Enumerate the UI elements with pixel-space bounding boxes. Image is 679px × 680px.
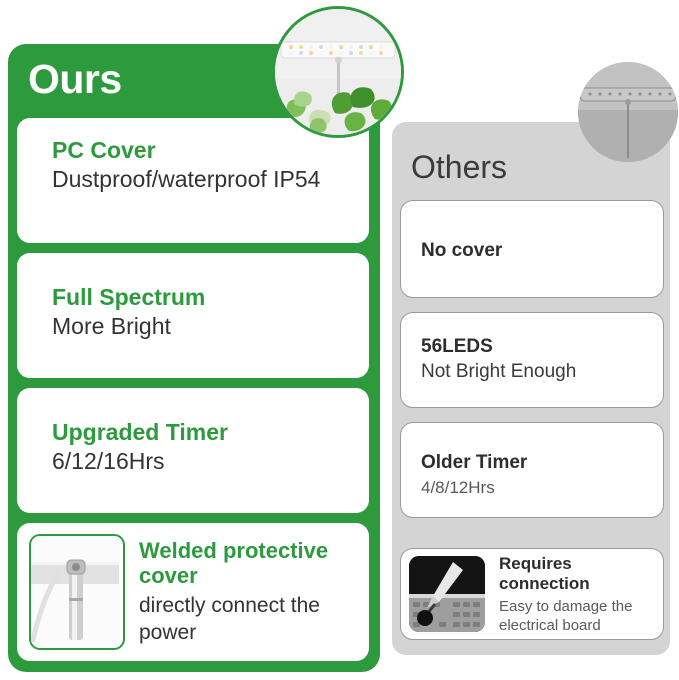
others-card-requires-connection: Requires connection Easy to damage the e… (400, 548, 664, 640)
connector-board-graphic (409, 556, 485, 632)
others-card-heading: Older Timer (421, 451, 653, 475)
ours-card-subtext: 6/12/16Hrs (52, 446, 357, 477)
ours-card-heading: PC Cover (52, 136, 357, 164)
ours-card-subtext: directly connect the power (139, 592, 359, 646)
others-card-heading: Requires connection (499, 554, 655, 594)
welded-pole-graphic (31, 536, 119, 644)
others-card-no-cover: No cover (400, 200, 664, 298)
others-card-heading: No cover (421, 239, 653, 263)
ours-title: Ours (28, 56, 122, 102)
others-card-text: Requires connection Easy to damage the e… (499, 554, 655, 635)
ours-card-text: Welded protective cover directly connect… (139, 538, 359, 646)
ours-circle-photo (272, 6, 404, 138)
ours-card-heading: Upgraded Timer (52, 418, 357, 446)
others-card-heading: 56LEDS (421, 335, 653, 359)
others-card-text: 56LEDS Not Bright Enough (421, 335, 653, 385)
ours-card-upgraded-timer: Upgraded Timer 6/12/16Hrs (17, 388, 369, 513)
ours-card-pc-cover: PC Cover Dustproof/waterproof IP54 (17, 118, 369, 243)
ours-card-text: Full Spectrum More Bright (52, 283, 357, 342)
others-card-text: Older Timer 4/8/12Hrs (421, 451, 653, 501)
others-card-subtext: 4/8/12Hrs (421, 475, 653, 501)
ours-card-heading: Welded protective cover (139, 538, 359, 588)
others-title: Others (411, 147, 507, 187)
ours-card-text: Upgraded Timer 6/12/16Hrs (52, 418, 357, 477)
others-card-subtext: Not Bright Enough (421, 359, 653, 385)
welded-pole-photo (29, 534, 125, 650)
others-card-subtext: Easy to damage the electrical board (499, 597, 655, 635)
others-circle-photo (578, 62, 678, 162)
comparison-infographic: Others No cover 56LEDS Not Bright Enough… (0, 0, 679, 680)
gray-led-bar-graphic (578, 62, 678, 162)
ours-card-full-spectrum: Full Spectrum More Bright (17, 253, 369, 378)
grow-light-over-plants-graphic (275, 9, 401, 135)
ours-card-welded-cover: Welded protective cover directly connect… (17, 523, 369, 661)
ours-card-heading: Full Spectrum (52, 283, 357, 311)
others-card-leds: 56LEDS Not Bright Enough (400, 312, 664, 408)
ours-card-subtext: Dustproof/waterproof IP54 (52, 164, 357, 195)
others-card-text: No cover (421, 239, 653, 263)
others-card-older-timer: Older Timer 4/8/12Hrs (400, 422, 664, 518)
ours-card-subtext: More Bright (52, 311, 357, 342)
connector-board-photo (409, 556, 485, 632)
ours-card-text: PC Cover Dustproof/waterproof IP54 (52, 136, 357, 195)
